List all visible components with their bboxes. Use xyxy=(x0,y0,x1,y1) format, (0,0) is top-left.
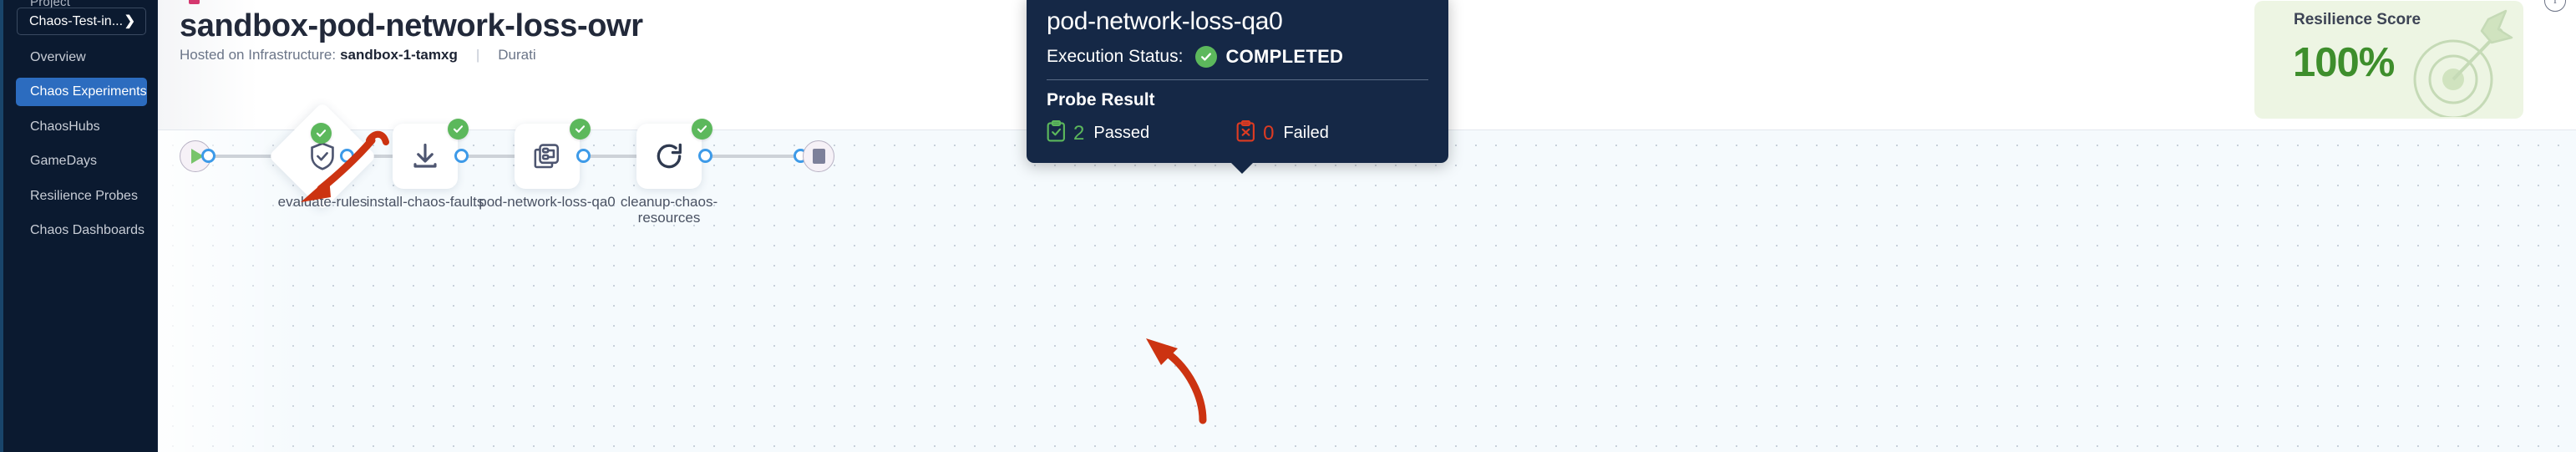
app-root: Project Chaos-Test-in... ❯ Overview Chao… xyxy=(0,0,2576,452)
tooltip-probe-results: 2 Passed 0 Failed xyxy=(1047,120,1428,146)
resilience-score-card: Resilience Score 100% xyxy=(2254,1,2523,119)
port-start-out[interactable] xyxy=(201,149,216,163)
sidebar-item-label: Chaos Dashboards xyxy=(30,223,145,238)
download-icon xyxy=(410,141,440,171)
sidebar-item-label: ChaosHubs xyxy=(30,119,100,135)
shield-check-icon xyxy=(308,141,337,171)
tooltip-pointer-arrow xyxy=(1230,162,1254,174)
project-selector[interactable]: Chaos-Test-in... ❯ xyxy=(17,8,146,35)
tooltip-execution-status-value: COMPLETED xyxy=(1225,46,1343,68)
port-evaluate-out[interactable] xyxy=(340,149,354,163)
project-selector-value: Chaos-Test-in... xyxy=(29,14,123,29)
target-arrow-illustration xyxy=(2395,4,2520,117)
sidebar-item-label: Chaos Experiments xyxy=(30,84,147,99)
sidebar-item-chaoshubs[interactable]: ChaosHubs xyxy=(16,113,147,141)
info-icon[interactable]: i xyxy=(2544,0,2566,12)
node-label-install-chaos-faults: install-chaos-faults xyxy=(354,194,496,210)
edge-cleanup-to-end xyxy=(705,155,800,158)
sidebar-accent-bar xyxy=(0,0,3,452)
sidebar-item-resilience-probes[interactable]: Resilience Probes xyxy=(16,182,147,211)
resilience-score-value: 100% xyxy=(2293,39,2394,86)
page-subtitle: Hosted on Infrastructure: sandbox-1-tamx… xyxy=(180,47,536,63)
chaos-fault-icon xyxy=(533,142,561,170)
status-check-cleanup-chaos-resources xyxy=(692,119,712,140)
tooltip-execution-status-label: Execution Status: xyxy=(1047,47,1183,67)
refresh-icon xyxy=(653,140,685,172)
breadcrumb-marker-icon xyxy=(189,0,200,4)
check-circle-icon xyxy=(1195,46,1217,68)
sidebar-item-label: Resilience Probes xyxy=(30,189,138,204)
sidebar-item-chaos-experiments[interactable]: Chaos Experiments xyxy=(16,78,147,106)
sidebar: Project Chaos-Test-in... ❯ Overview Chao… xyxy=(0,0,158,452)
canvas-left-fade xyxy=(158,130,308,452)
port-cleanup-out[interactable] xyxy=(698,149,712,163)
main-content: sandbox-pod-network-loss-owr Hosted on I… xyxy=(158,0,2576,452)
node-detail-tooltip: pod-network-loss-qa0 Execution Status: C… xyxy=(1027,0,1448,163)
port-install-out[interactable] xyxy=(454,149,469,163)
subtitle-divider: | xyxy=(476,47,479,63)
probe-failed-count: 0 xyxy=(1263,122,1274,145)
tooltip-execution-status-row: Execution Status: COMPLETED xyxy=(1047,46,1428,68)
node-label-cleanup-chaos-resources: cleanup-chaos-resources xyxy=(598,194,740,226)
tooltip-title: pod-network-loss-qa0 xyxy=(1047,8,1428,36)
status-check-install-chaos-faults xyxy=(448,119,469,140)
clipboard-x-icon xyxy=(1236,120,1255,146)
tooltip-divider xyxy=(1047,79,1428,80)
probe-passed-count: 2 xyxy=(1073,122,1084,145)
node-label-pod-network-loss-qa0: pod-network-loss-qa0 xyxy=(476,194,618,210)
infrastructure-label: Hosted on Infrastructure: xyxy=(180,47,336,63)
chevron-right-icon: ❯ xyxy=(124,15,135,28)
clipboard-check-icon xyxy=(1047,120,1066,146)
stop-icon xyxy=(813,149,825,164)
infrastructure-value: sandbox-1-tamxg xyxy=(340,47,458,63)
pipeline-canvas[interactable]: evaluate-rules install-chaos-faults xyxy=(158,130,2576,452)
probe-failed: 0 Failed xyxy=(1236,120,1329,146)
page-title: sandbox-pod-network-loss-owr xyxy=(180,8,643,44)
status-check-pod-network-loss-qa0 xyxy=(570,119,591,140)
end-node[interactable] xyxy=(803,140,834,172)
port-podnetwork-out[interactable] xyxy=(576,149,591,163)
sidebar-item-overview[interactable]: Overview xyxy=(16,43,147,72)
sidebar-item-label: Overview xyxy=(30,50,86,65)
status-check-evaluate-rules xyxy=(311,123,332,144)
sidebar-item-label: GameDays xyxy=(30,154,97,169)
probe-failed-label: Failed xyxy=(1283,124,1328,143)
sidebar-item-gamedays[interactable]: GameDays xyxy=(16,147,147,175)
tooltip-probe-result-heading: Probe Result xyxy=(1047,90,1428,110)
probe-passed: 2 Passed xyxy=(1047,120,1149,146)
probe-passed-label: Passed xyxy=(1093,124,1149,143)
sidebar-item-chaos-dashboards[interactable]: Chaos Dashboards xyxy=(16,216,147,245)
duration-label: Durati xyxy=(498,47,535,63)
